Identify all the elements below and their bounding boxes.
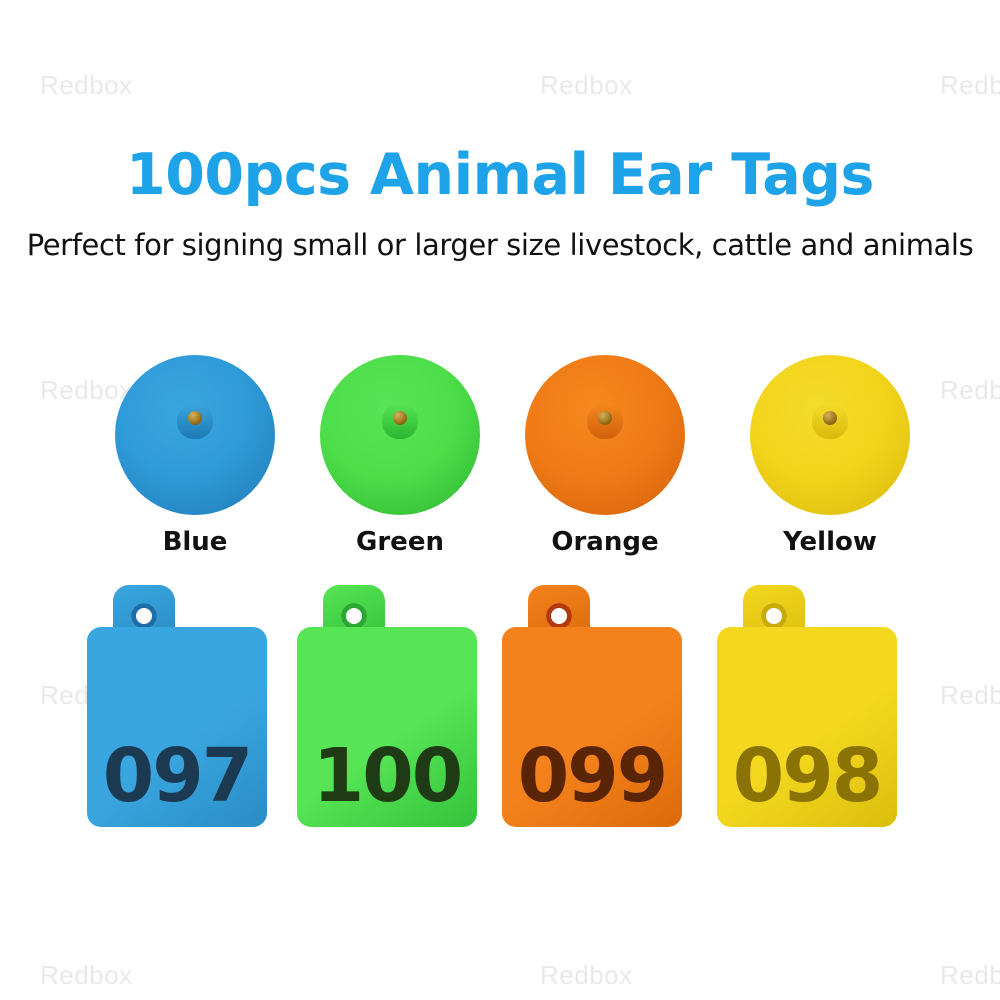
tag-body: 100 [297,627,477,827]
ear-tag-098: 098 [715,585,915,845]
tag-body: 099 [502,627,682,827]
page-subtitle: Perfect for signing small or larger size… [0,228,1000,262]
tag-body: 097 [87,627,267,827]
color-label: Yellow [730,527,930,557]
watermark-text: Redbox [540,960,633,991]
ear-tag-button-disc [320,355,480,515]
ear-tag-button-orange: Orange [505,355,705,515]
page-title: 100pcs Animal Ear Tags [0,142,1000,208]
watermark-text: Redbox [940,960,1000,991]
brass-pin-icon [598,411,612,425]
tag-number: 097 [103,739,251,827]
tag-hole [341,603,367,629]
watermark-text: Redbox [40,70,133,101]
color-label: Orange [505,527,705,557]
tag-number: 098 [733,739,881,827]
brass-pin-icon [393,411,407,425]
tag-hole [131,603,157,629]
tag-hole [546,603,572,629]
brass-pin-icon [188,411,202,425]
tag-hole [761,603,787,629]
ear-tag-097: 097 [85,585,285,845]
color-label: Blue [95,527,295,557]
color-label: Green [300,527,500,557]
brass-pin-icon [823,411,837,425]
ear-tag-button-yellow: Yellow [730,355,930,515]
watermark-text: Redbox [940,70,1000,101]
ear-tag-button-disc [525,355,685,515]
tag-number: 099 [518,739,666,827]
ear-tag-row: 097100099098 [0,585,1000,855]
ear-tag-100: 100 [295,585,495,845]
ear-tag-button-blue: Blue [95,355,295,515]
watermark-text: Redbox [540,70,633,101]
ear-tag-button-disc [115,355,275,515]
ear-tag-button-row: BlueGreenOrangeYellow [0,355,1000,565]
ear-tag-button-green: Green [300,355,500,515]
tag-body: 098 [717,627,897,827]
ear-tag-099: 099 [500,585,700,845]
ear-tag-button-disc [750,355,910,515]
watermark-text: Redbox [40,960,133,991]
tag-number: 100 [313,739,461,827]
